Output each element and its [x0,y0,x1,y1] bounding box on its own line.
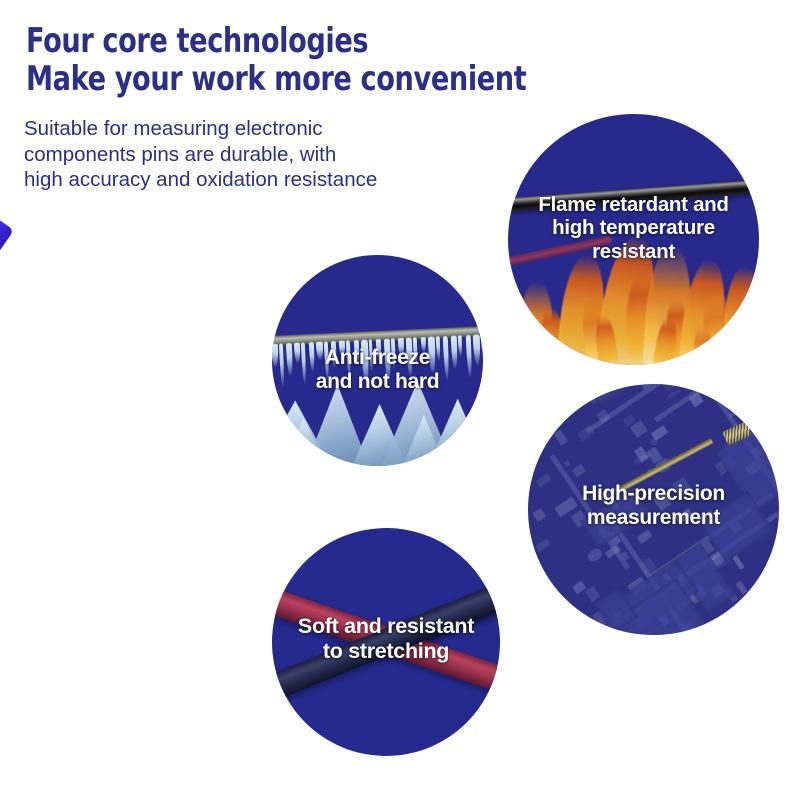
feature-label-line-1: Flame retardant and [516,193,751,216]
pcb-pad [761,384,772,393]
feature-circle-soft-resistant: Soft and resistant to stretching [272,528,500,756]
feature-label-line-2: to stretching [280,639,492,664]
subtitle: Suitable for measuring electronic compon… [24,116,377,193]
pcb-pad [586,547,604,563]
pcb-pad [553,429,568,445]
pcb-pad [535,539,550,552]
product-photo-test-probes [0,205,274,725]
pcb-pad [560,395,582,415]
probe-1-blue-cap [0,205,14,284]
pcb-pad [636,529,653,544]
pcb-pad [650,425,667,441]
pcb-pad [563,460,570,467]
feature-label-line-3: resistant [516,240,751,263]
feature-label-line-1: Anti-freeze [280,346,475,370]
subtitle-line-3: high accuracy and oxidation resistance [24,167,377,193]
probe-1 [0,205,21,545]
feature-circle-anti-freeze: Anti-freeze and not hard [272,255,483,466]
feature-label-anti-freeze: Anti-freeze and not hard [272,346,483,394]
pcb-pad [736,581,748,595]
feature-circle-high-precision: High-precision measurement [528,384,779,635]
pcb-pad [528,536,534,553]
pcb-pad [585,586,600,602]
marketing-banner: Four core technologies Make your work mo… [0,0,800,800]
feature-label-line-1: Soft and resistant [280,614,492,639]
feature-label-line-2: high temperature [516,216,751,239]
subtitle-line-2: components pins are durable, with [24,142,377,168]
feature-label-line-2: and not hard [280,370,475,394]
headline-line-2: Make your work more convenient [26,62,526,96]
feature-label-flame-retardant: Flame retardant and high temperature res… [508,193,759,263]
pcb-pad [571,464,586,478]
pcb-pad [572,581,586,594]
subtitle-line-1: Suitable for measuring electronic [24,116,377,142]
pcb-pad [577,617,591,631]
feature-circle-flame-retardant: Flame retardant and high temperature res… [508,114,759,365]
feature-label-line-2: measurement [536,506,771,530]
feature-label-soft-resistant: Soft and resistant to stretching [272,614,500,663]
flames-graphic [508,250,759,365]
headline-line-1: Four core technologies [26,21,368,61]
page-title: Four core technologies Make your work mo… [26,24,526,96]
feature-label-line-1: High-precision [536,482,771,506]
feature-label-high-precision: High-precision measurement [528,482,779,530]
